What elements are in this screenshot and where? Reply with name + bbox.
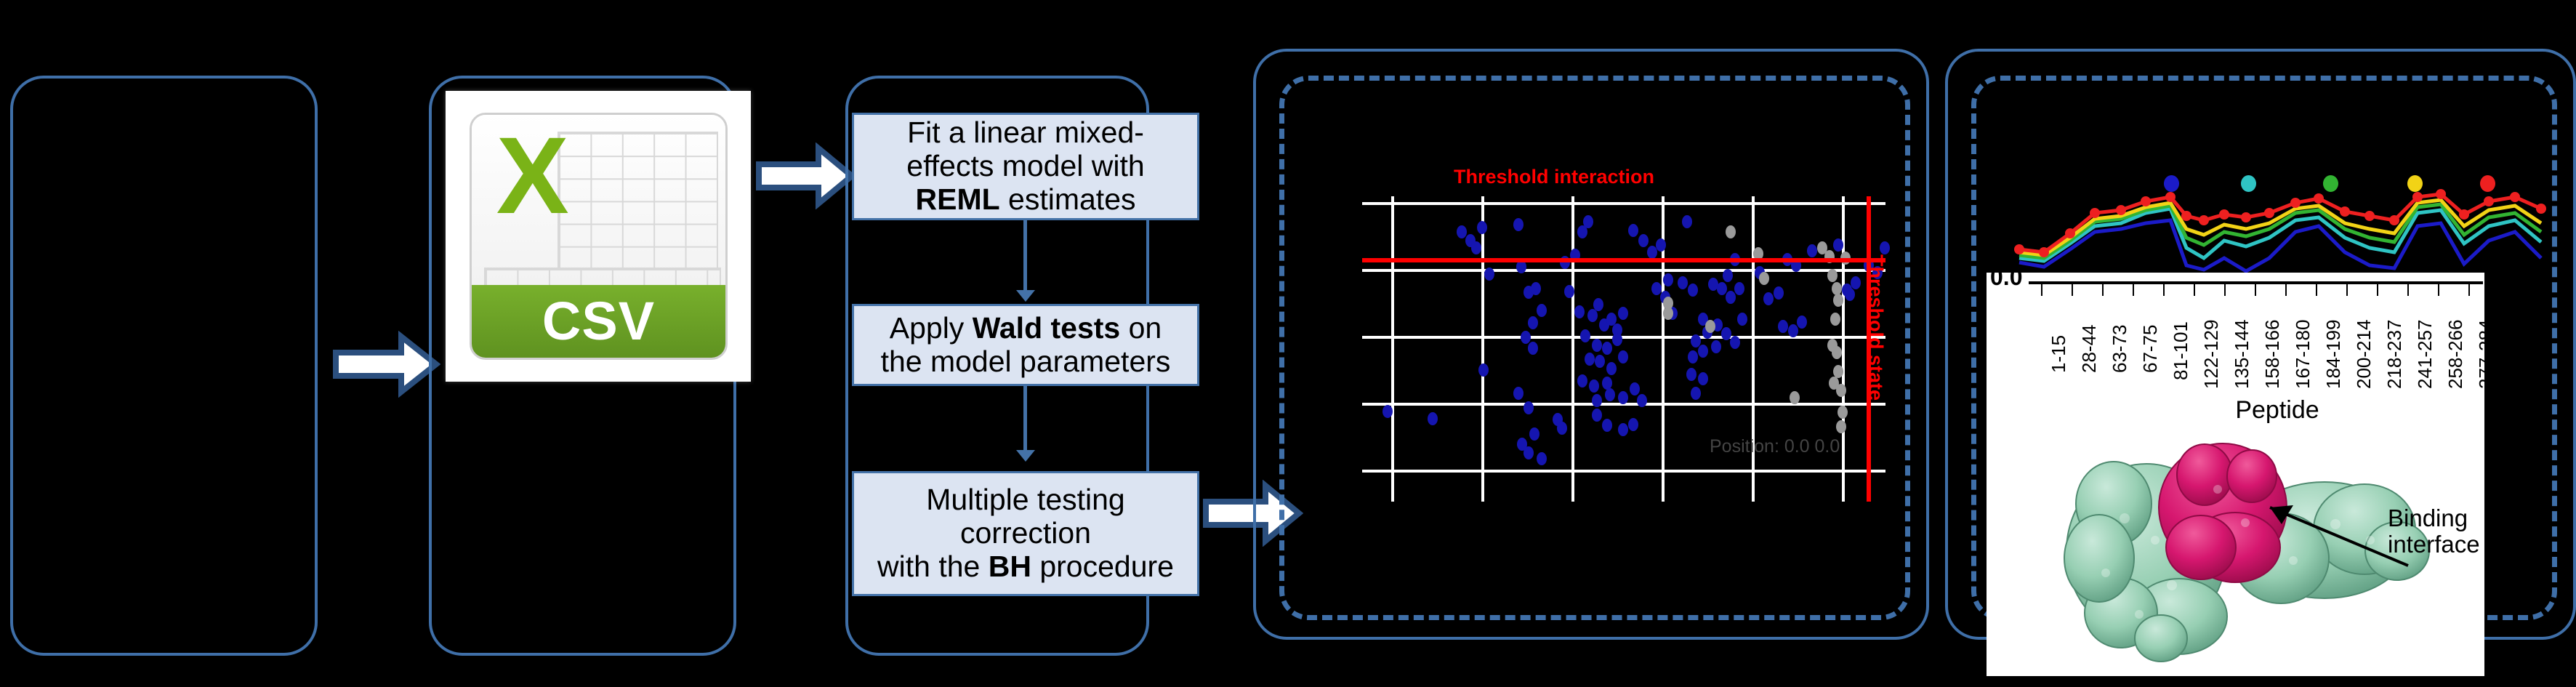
scatter-position-readout: Position: 0.0 0.0	[1710, 436, 1840, 457]
peptide-tick-label: 28-44	[2078, 325, 2101, 374]
scatter-point	[1577, 374, 1587, 387]
scatter-point	[1726, 225, 1736, 238]
x-axis-tick	[2438, 284, 2439, 296]
connector-1-arrowhead	[1016, 290, 1035, 302]
scatter-point	[1682, 215, 1692, 228]
scatter-point	[1726, 291, 1736, 304]
scatter-point	[1471, 241, 1481, 254]
scatter-point	[1484, 268, 1494, 281]
scatter-point	[1637, 394, 1647, 407]
x-axis-tick	[2316, 284, 2317, 296]
connector-2-arrowhead	[1016, 450, 1035, 462]
scatter-point	[1593, 298, 1603, 311]
scatter-point	[1618, 350, 1628, 363]
x-axis-tick	[2407, 284, 2409, 296]
csv-file-icon[interactable]: X CSV	[470, 113, 728, 360]
scatter-point	[1457, 225, 1467, 238]
x-axis-tick	[2194, 284, 2195, 296]
scatter-point	[1602, 419, 1612, 432]
scatter-point	[1763, 292, 1774, 305]
scatter-point	[1478, 363, 1489, 377]
workflow-diagram: X CSV Fit a linear mixed-effects model w…	[0, 0, 2576, 687]
scatter-point	[1595, 355, 1605, 368]
scatter-point	[1705, 320, 1715, 333]
scatter-point	[1759, 272, 1769, 285]
multiple-testing-step-text: Multiple testingcorrectionwith the BH pr…	[873, 483, 1178, 584]
connector-2	[1023, 386, 1027, 450]
scatter-point	[1836, 384, 1846, 397]
scatter-point	[1721, 327, 1731, 340]
binding-interface-line2: interface	[2388, 531, 2480, 558]
x-axis-title: Peptide	[2197, 396, 2357, 425]
x-axis-tick	[2072, 284, 2073, 296]
peptide-tick-label: 184-199	[2322, 320, 2345, 389]
scatter-plot-title: Threshold interaction	[1454, 166, 1654, 188]
binding-interface-line1: Binding	[2388, 505, 2480, 531]
scatter-point	[1477, 221, 1487, 234]
scatter-point	[1529, 427, 1539, 441]
panel-1-empty[interactable]	[10, 76, 318, 656]
peptide-tick-label: 218-237	[2383, 320, 2406, 389]
excel-x-letter: X	[487, 127, 579, 254]
scatter-point	[1717, 282, 1727, 295]
scatter-point	[1833, 294, 1843, 307]
scatter-point	[1663, 273, 1673, 286]
multiple-testing-step[interactable]: Multiple testingcorrectionwith the BH pr…	[852, 471, 1199, 596]
scatter-point	[1651, 282, 1662, 295]
scatter-point	[1688, 350, 1698, 363]
connector-1	[1023, 220, 1027, 290]
peptide-tick-label: 258-266	[2444, 320, 2467, 389]
csv-grid-main	[558, 132, 717, 270]
scatter-point	[1618, 391, 1628, 404]
arrow-data-to-stats	[754, 142, 856, 209]
peptide-tick-label: 1-15	[2048, 335, 2070, 373]
threshold-state-label: Threshold state	[1864, 254, 1887, 401]
scatter-point	[1774, 286, 1784, 300]
scatter-point	[1838, 406, 1848, 419]
scatter-point	[1524, 401, 1534, 414]
protein-structure-figure	[2030, 431, 2437, 664]
scatter-point	[1880, 241, 1890, 254]
scatter-point	[1827, 269, 1838, 282]
scatter-point	[1618, 307, 1628, 320]
scatter-point	[1587, 309, 1598, 322]
y-axis-tick-zero: 0.0	[1990, 273, 2022, 291]
scatter-point	[1830, 313, 1840, 326]
arrow-into-data	[331, 331, 440, 398]
scatter-point	[1602, 342, 1612, 355]
scatter-point	[1832, 346, 1842, 359]
x-axis-tick	[2224, 284, 2226, 296]
peptide-tick-label: 158-166	[2261, 320, 2284, 389]
x-axis-tick	[2377, 284, 2378, 296]
peptide-tick-label: 200-214	[2353, 320, 2375, 389]
scatter-point	[1678, 276, 1688, 289]
scatter-point	[1592, 409, 1602, 422]
scatter-point	[1638, 234, 1649, 247]
peptide-protein-card: 0.0 1-15 28-44 63-73 67-75 81-101 122-12…	[1987, 273, 2484, 676]
csv-file-card: X CSV	[446, 91, 751, 382]
x-axis-tick	[2133, 284, 2134, 296]
scatter-point	[1592, 339, 1602, 352]
scatter-point	[1612, 333, 1622, 346]
threshold-scatter-plot[interactable]: Threshold interaction Position: 0.0 0.0	[1337, 153, 1890, 516]
scatter-point	[1577, 225, 1587, 238]
scatter-point	[1382, 405, 1393, 418]
scatter-point	[1528, 342, 1538, 355]
x-axis-tick	[2102, 284, 2104, 296]
scatter-point	[1592, 394, 1602, 407]
scatter-point	[1833, 238, 1843, 252]
peptide-tick-label: 67-75	[2139, 325, 2162, 374]
scatter-point	[1691, 387, 1701, 400]
peptide-tick-label: 241-257	[2414, 320, 2436, 389]
scatter-point	[1580, 329, 1590, 342]
scatter-point	[1618, 423, 1628, 436]
scatter-point	[1513, 218, 1524, 231]
fit-model-step[interactable]: Fit a linear mixed-effects model withREM…	[852, 113, 1199, 220]
scatter-point	[1845, 288, 1855, 301]
wald-tests-step-text: Apply Wald tests onthe model parameters	[877, 312, 1175, 379]
scatter-point	[1531, 282, 1541, 295]
scatter-point	[1605, 388, 1615, 401]
scatter-point	[1686, 368, 1696, 381]
peptide-tick-label: 277-284	[2475, 320, 2484, 389]
csv-format-label: CSV	[542, 290, 655, 352]
scatter-point	[1537, 452, 1547, 465]
scatter-point	[1428, 412, 1438, 425]
scatter-point	[1628, 224, 1638, 237]
scatter-point	[1807, 244, 1817, 257]
scatter-point	[1688, 284, 1698, 297]
peptide-tick-label: 81-101	[2170, 321, 2192, 380]
scatter-point	[1574, 305, 1585, 318]
scatter-point	[1663, 307, 1673, 320]
scatter-point	[1606, 362, 1617, 375]
binding-interface-annotation: Binding interface	[2388, 505, 2480, 557]
x-axis-tick	[2285, 284, 2287, 296]
scatter-point	[1630, 382, 1640, 395]
threshold-interaction-line	[1362, 258, 1885, 262]
scatter-plot-area: Position: 0.0 0.0	[1362, 196, 1885, 502]
scatter-point	[1537, 304, 1547, 317]
peptide-tick-label: 167-180	[2292, 320, 2314, 389]
scatter-point	[1778, 320, 1788, 333]
scatter-point	[1528, 316, 1538, 329]
wald-tests-step[interactable]: Apply Wald tests onthe model parameters	[852, 304, 1199, 386]
x-axis-tick	[2346, 284, 2348, 296]
scatter-point	[1698, 372, 1708, 385]
peptide-tick-label: 122-129	[2200, 320, 2223, 389]
scatter-point	[1851, 276, 1861, 289]
scatter-point	[1734, 282, 1744, 295]
x-axis-tick	[2255, 284, 2256, 296]
scatter-point	[1524, 446, 1534, 459]
peptide-tick-label: 63-73	[2109, 325, 2131, 374]
scatter-point	[1513, 387, 1524, 400]
scatter-point	[1788, 324, 1798, 337]
scatter-point	[1557, 422, 1567, 435]
scatter-point	[1730, 336, 1740, 349]
x-axis-tick	[2041, 284, 2042, 296]
scatter-point	[1564, 285, 1574, 298]
scatter-point	[1628, 418, 1638, 431]
peptide-tick-label: 135-144	[2231, 320, 2253, 389]
scatter-point	[1585, 353, 1595, 366]
scatter-point	[1589, 379, 1599, 393]
scatter-point	[1711, 340, 1721, 353]
scatter-point	[1521, 331, 1531, 344]
fit-model-step-text: Fit a linear mixed-effects model withREM…	[902, 116, 1148, 217]
scatter-point	[1698, 345, 1708, 358]
scatter-point	[1737, 313, 1747, 326]
scatter-point	[1797, 316, 1807, 329]
scatter-point	[1790, 391, 1800, 404]
x-axis-tick	[2163, 284, 2165, 296]
peptide-line-chart-upper	[2006, 156, 2573, 273]
scatter-point	[1656, 238, 1666, 252]
scatter-point	[1836, 420, 1846, 433]
x-axis-tick	[2468, 284, 2470, 296]
csv-format-band: CSV	[472, 285, 725, 358]
scatter-point	[1723, 269, 1733, 282]
